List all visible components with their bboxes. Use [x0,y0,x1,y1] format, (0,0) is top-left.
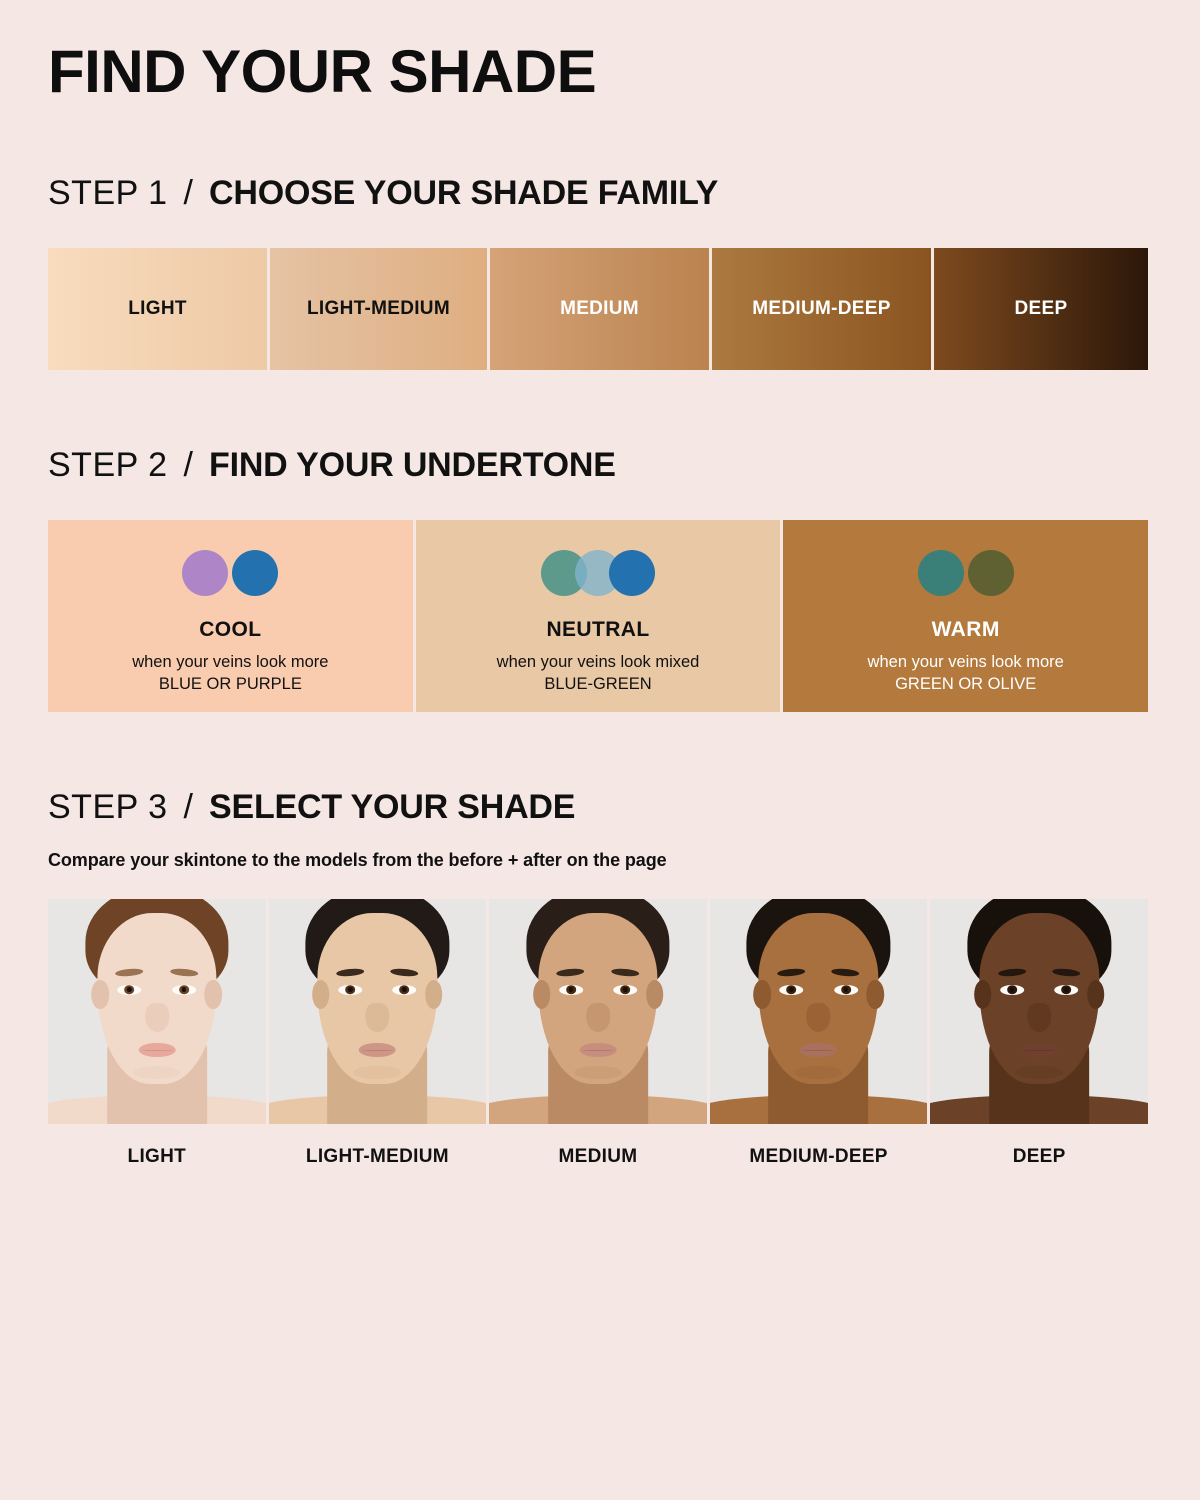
step-1-number: STEP 1 [48,176,168,210]
compare-instruction: Compare your skintone to the models from… [48,850,1152,871]
eye-shape [338,985,362,995]
model-cell-medium-deep[interactable]: MEDIUM-DEEP [710,899,928,1168]
step-2-heading: STEP 2 / FIND YOUR UNDERTONE [48,448,1152,482]
undertone-swatches-cool [182,550,278,596]
shade-family-bar: LIGHT LIGHT-MEDIUM MEDIUM MEDIUM-DEEP DE… [48,248,1148,370]
undertone-desc: when your veins look more [132,651,328,673]
shade-family-label: LIGHT-MEDIUM [307,298,450,320]
model-label: MEDIUM [559,1146,638,1168]
face-illustration [930,899,1148,1124]
eye-shape [393,985,417,995]
eye-shape [172,985,196,995]
iris-shape [1061,985,1071,995]
undertone-name: NEUTRAL [546,618,649,642]
iris-shape [1007,985,1017,995]
shade-family-medium[interactable]: MEDIUM [490,248,709,370]
step-2-separator: / [168,448,209,482]
nose-shape [1027,1003,1051,1032]
vein-color-purple-icon [182,550,228,596]
model-label: DEEP [1013,1146,1066,1168]
ear-shape [753,980,770,1009]
step-3-number: STEP 3 [48,790,168,824]
undertone-vein-colors: BLUE OR PURPLE [159,673,302,695]
step-2-number: STEP 2 [48,448,168,482]
step-1-title: CHOOSE YOUR SHADE FAMILY [209,176,718,210]
iris-shape [345,985,355,995]
face-illustration [269,899,487,1124]
head-shape [979,913,1099,1084]
eye-shape [779,985,803,995]
chin-shape [574,1066,622,1080]
vein-color-blue-icon [232,550,278,596]
ear-shape [1087,980,1104,1009]
head-shape [318,913,438,1084]
shade-family-medium-deep[interactable]: MEDIUM-DEEP [712,248,931,370]
chin-shape [795,1066,843,1080]
iris-shape [125,985,135,995]
undertone-card-cool[interactable]: COOL when your veins look more BLUE OR P… [48,520,413,712]
model-cell-light-medium[interactable]: LIGHT-MEDIUM [269,899,487,1168]
nose-shape [807,1003,831,1032]
page-title: FIND YOUR SHADE [48,0,1152,102]
eye-shape [559,985,583,995]
shade-family-light[interactable]: LIGHT [48,248,267,370]
shade-finder-page: FIND YOUR SHADE STEP 1 / CHOOSE YOUR SHA… [0,0,1200,1500]
undertone-desc: when your veins look more [868,651,1064,673]
head-shape [759,913,879,1084]
model-label: MEDIUM-DEEP [749,1146,887,1168]
model-photo-medium[interactable] [489,899,707,1124]
ear-shape [312,980,329,1009]
model-photo-deep[interactable] [930,899,1148,1124]
eye-shape [118,985,142,995]
undertone-swatches-warm [918,550,1014,596]
shade-family-label: DEEP [1015,298,1068,320]
step-2-title: FIND YOUR UNDERTONE [209,448,616,482]
face-illustration [48,899,266,1124]
iris-shape [400,985,410,995]
undertone-vein-colors: GREEN OR OLIVE [895,673,1036,695]
ear-shape [866,980,883,1009]
undertone-name: COOL [199,618,261,642]
nose-shape [145,1003,169,1032]
iris-shape [841,985,851,995]
ear-shape [646,980,663,1009]
vein-color-blue-icon [609,550,655,596]
model-label: LIGHT [128,1146,187,1168]
face-illustration [710,899,928,1124]
undertone-row: COOL when your veins look more BLUE OR P… [48,520,1148,712]
shade-family-label: MEDIUM-DEEP [752,298,890,320]
step-3-separator: / [168,790,209,824]
ear-shape [974,980,991,1009]
head-shape [97,913,217,1084]
shade-family-deep[interactable]: DEEP [934,248,1148,370]
undertone-swatches-neutral [541,550,655,596]
model-photo-light-medium[interactable] [269,899,487,1124]
ear-shape [92,980,109,1009]
undertone-card-warm[interactable]: WARM when your veins look more GREEN OR … [783,520,1148,712]
step-3-heading: STEP 3 / SELECT YOUR SHADE [48,790,1152,824]
face-illustration [489,899,707,1124]
iris-shape [620,985,630,995]
model-photo-light[interactable] [48,899,266,1124]
shade-family-label: MEDIUM [560,298,639,320]
eye-shape [1054,985,1078,995]
iris-shape [179,985,189,995]
shade-family-light-medium[interactable]: LIGHT-MEDIUM [270,248,487,370]
undertone-card-neutral[interactable]: NEUTRAL when your veins look mixed BLUE-… [416,520,781,712]
eye-shape [834,985,858,995]
undertone-vein-colors: BLUE-GREEN [544,673,651,695]
chin-shape [1015,1066,1063,1080]
ear-shape [205,980,222,1009]
iris-shape [566,985,576,995]
vein-color-teal-icon [918,550,964,596]
eye-shape [1000,985,1024,995]
eye-shape [613,985,637,995]
step-1-heading: STEP 1 / CHOOSE YOUR SHADE FAMILY [48,176,1152,210]
model-photo-medium-deep[interactable] [710,899,928,1124]
model-photo-row: LIGHT LI [48,899,1148,1168]
model-cell-deep[interactable]: DEEP [930,899,1148,1168]
undertone-desc: when your veins look mixed [497,651,700,673]
model-cell-medium[interactable]: MEDIUM [489,899,707,1168]
model-label: LIGHT-MEDIUM [306,1146,449,1168]
step-3-title: SELECT YOUR SHADE [209,790,575,824]
shade-family-label: LIGHT [128,298,187,320]
model-cell-light[interactable]: LIGHT [48,899,266,1168]
chin-shape [353,1066,401,1080]
step-1-separator: / [168,176,209,210]
ear-shape [425,980,442,1009]
head-shape [538,913,658,1084]
ear-shape [533,980,550,1009]
vein-color-olive-icon [968,550,1014,596]
iris-shape [786,985,796,995]
chin-shape [133,1066,181,1080]
nose-shape [365,1003,389,1032]
undertone-name: WARM [932,618,1000,642]
nose-shape [586,1003,610,1032]
